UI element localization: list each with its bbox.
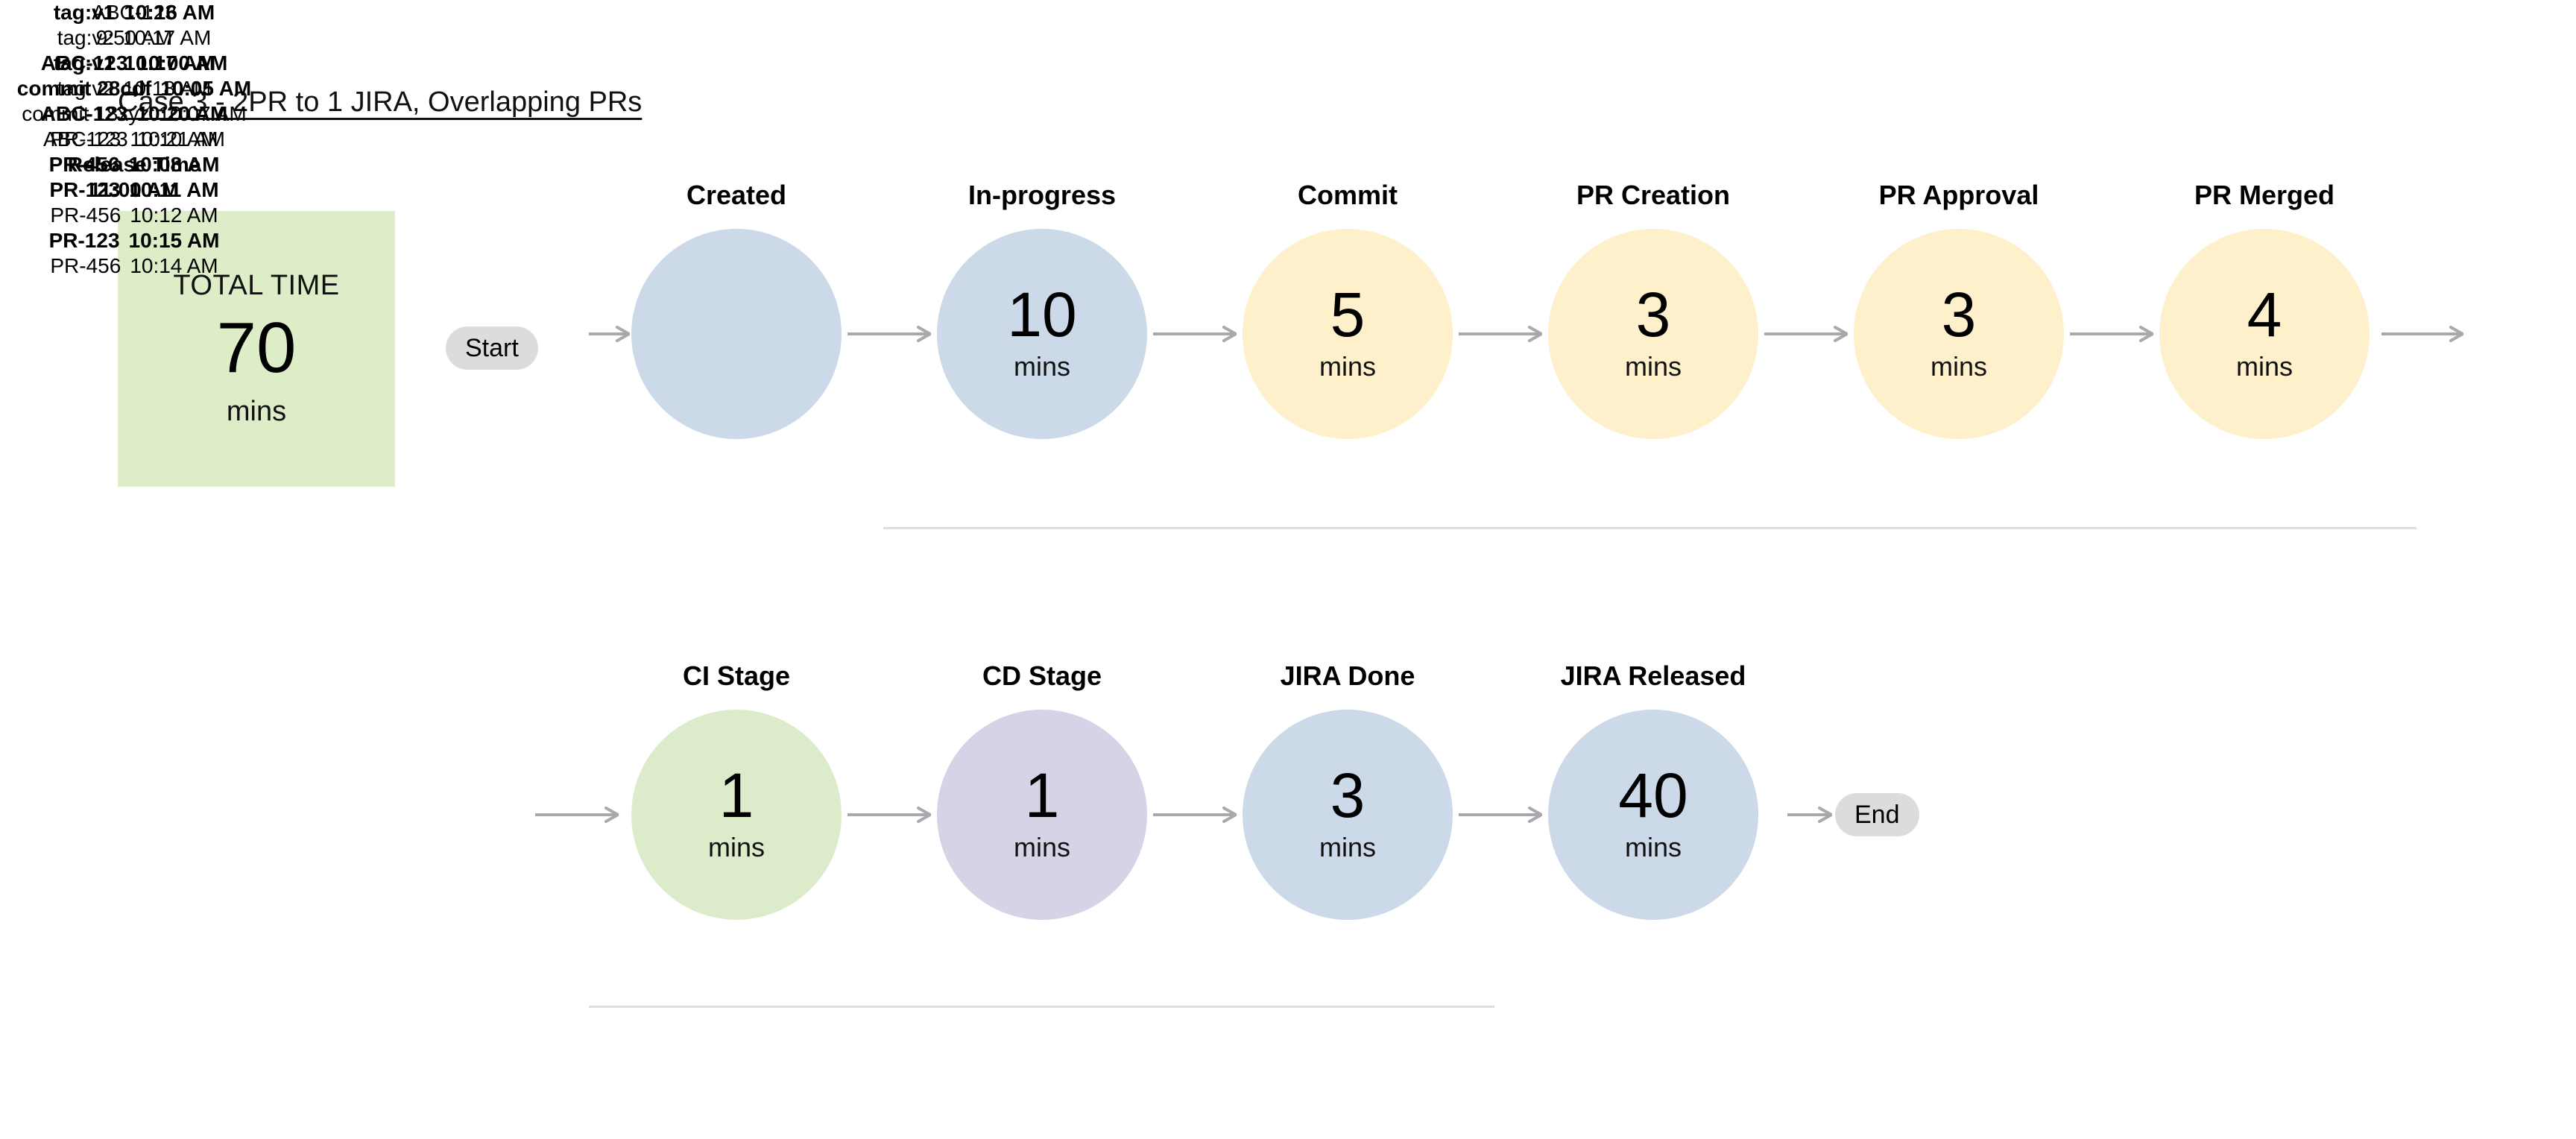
stage-detail-line: ABC-12310:21 AM <box>0 127 268 152</box>
stage-node[interactable]: 5mins <box>1213 224 1482 444</box>
stage-header: PR Merged <box>2130 179 2399 212</box>
stage-bubble[interactable]: 3mins <box>1243 710 1453 920</box>
stage-detail-time: 10:14 AM <box>130 254 218 277</box>
flow-arrow <box>1153 325 1237 343</box>
stage-duration-value: 3 <box>1636 285 1671 345</box>
stage-bubble[interactable]: 5mins <box>1243 229 1453 439</box>
flow-arrow <box>847 325 931 343</box>
stage-detail-id: tag:v1 <box>54 51 115 75</box>
stage-header: Commit <box>1213 179 1482 212</box>
flow-arrow <box>847 806 931 824</box>
stage-detail-id: ABC-123 <box>43 127 128 151</box>
stage-duration-unit: mins <box>1014 832 1070 863</box>
stage-detail-time: 10:12 AM <box>130 203 218 227</box>
stage-detail-time: 10:17 AM <box>123 26 211 49</box>
flow-arrow <box>1153 806 1237 824</box>
stage-duration-unit: mins <box>1625 832 1682 863</box>
stage-duration-unit: mins <box>2236 351 2293 382</box>
stage-detail-line: tag:v210:18 AM <box>0 76 268 101</box>
flow-arrow <box>1764 325 1848 343</box>
stage-header: PR Approval <box>1825 179 2093 212</box>
flow-arrow-wrap-in <box>535 806 619 824</box>
flow-arrow-start <box>589 325 630 343</box>
stage-duration-value: 5 <box>1330 285 1366 345</box>
stage-bubble[interactable]: 3mins <box>1548 229 1758 439</box>
stage-duration-unit: mins <box>1319 832 1376 863</box>
stage-detail-id: Release Time <box>0 152 268 177</box>
stage-node[interactable] <box>602 224 871 444</box>
stage-duration-value: 3 <box>1942 285 1977 345</box>
stage-duration-unit: mins <box>1014 351 1070 382</box>
stage-header: CD Stage <box>908 660 1176 692</box>
stage-header: In-progress <box>908 179 1176 212</box>
stage-detail-time: 10:16 AM <box>124 1 215 24</box>
stage-node[interactable]: 1mins <box>908 704 1176 925</box>
stage-bubble[interactable]: 4mins <box>2159 229 2370 439</box>
stage-bubble[interactable]: 40mins <box>1548 710 1758 920</box>
total-time-unit: mins <box>227 396 286 428</box>
end-marker[interactable]: End <box>1835 793 1919 836</box>
stage-header: PR Creation <box>1519 179 1787 212</box>
stage-node[interactable]: 3mins <box>1825 224 2093 444</box>
stage-duration-unit: mins <box>1931 351 1987 382</box>
stage-duration-value: 1 <box>719 766 754 826</box>
stage-duration-value: 10 <box>1007 285 1076 345</box>
detail-divider <box>883 527 2416 529</box>
stage-detail-line: tag:v110:16 AM <box>0 0 268 25</box>
stage-detail-time: 10:15 AM <box>129 229 220 252</box>
start-marker[interactable]: Start <box>446 326 538 370</box>
stage-detail-line: ABC-12310:20 AM <box>0 101 268 127</box>
stage-duration-value: 3 <box>1330 766 1366 826</box>
stage-header: JIRA Released <box>1519 660 1787 692</box>
stage-detail-id: tag:v1 <box>54 1 115 24</box>
flow-row-2: CI Stage1minstag:v110:16 AMtag:v210:17 A… <box>0 0 2576 1</box>
flow-arrow-end <box>1787 806 1832 824</box>
stage-detail-line: tag:v110:17 AM <box>0 51 268 76</box>
stage-node[interactable]: 3mins <box>1213 704 1482 925</box>
stage-duration-value: 40 <box>1618 766 1688 826</box>
stage-node[interactable]: 4mins <box>2130 224 2399 444</box>
flow-arrow <box>1459 325 1542 343</box>
stage-duration-unit: mins <box>708 832 765 863</box>
stage-detail-id: PR-123 <box>49 229 120 252</box>
stage-detail-id: PR-456 <box>50 203 121 227</box>
stage-detail-time: 10:17 AM <box>124 51 215 75</box>
stage-bubble[interactable] <box>631 229 842 439</box>
stage-detail-time: 10:18 AM <box>123 77 211 100</box>
stage-detail-id: tag:v2 <box>57 26 114 49</box>
stage-detail-line: Release Time11:00 AM <box>0 152 268 203</box>
stage-header: Created <box>602 179 871 212</box>
stage-detail-id: PR-456 <box>50 254 121 277</box>
stage-duration-unit: mins <box>1319 351 1376 382</box>
stage-detail-id: tag:v2 <box>57 77 114 100</box>
stage-bubble[interactable]: 1mins <box>937 710 1147 920</box>
stage-node[interactable]: 40mins <box>1519 704 1787 925</box>
stage-detail-time: 10:21 AM <box>137 127 225 151</box>
stage-detail-line: PR-45610:12 AM <box>0 203 268 228</box>
stage-detail-line: tag:v210:17 AM <box>0 25 268 51</box>
flow-arrow-wrap-out <box>2381 325 2463 343</box>
stage-bubble[interactable]: 3mins <box>1854 229 2064 439</box>
stage-header: CI Stage <box>602 660 871 692</box>
stage-detail-time: 11:00 AM <box>0 177 268 203</box>
stage-node[interactable]: 1mins <box>602 704 871 925</box>
stage-detail-line: PR-12310:15 AM <box>0 228 268 253</box>
stage-duration-unit: mins <box>1625 351 1682 382</box>
detail-divider <box>589 1006 1494 1008</box>
stage-node[interactable]: 3mins <box>1519 224 1787 444</box>
total-time-value: 70 <box>217 312 297 384</box>
stage-bubble[interactable]: 1mins <box>631 710 842 920</box>
stage-bubble[interactable]: 10mins <box>937 229 1147 439</box>
stage-detail-id: ABC-123 <box>41 102 128 125</box>
flow-arrow <box>2070 325 2153 343</box>
stage-header: JIRA Done <box>1213 660 1482 692</box>
stage-node[interactable]: 10mins <box>908 224 1176 444</box>
stage-detail-time: 10:20 AM <box>136 102 227 125</box>
flow-arrow <box>1459 806 1542 824</box>
stage-duration-value: 4 <box>2247 285 2282 345</box>
stage-duration-value: 1 <box>1025 766 1060 826</box>
stage-detail-line: PR-45610:14 AM <box>0 253 268 279</box>
